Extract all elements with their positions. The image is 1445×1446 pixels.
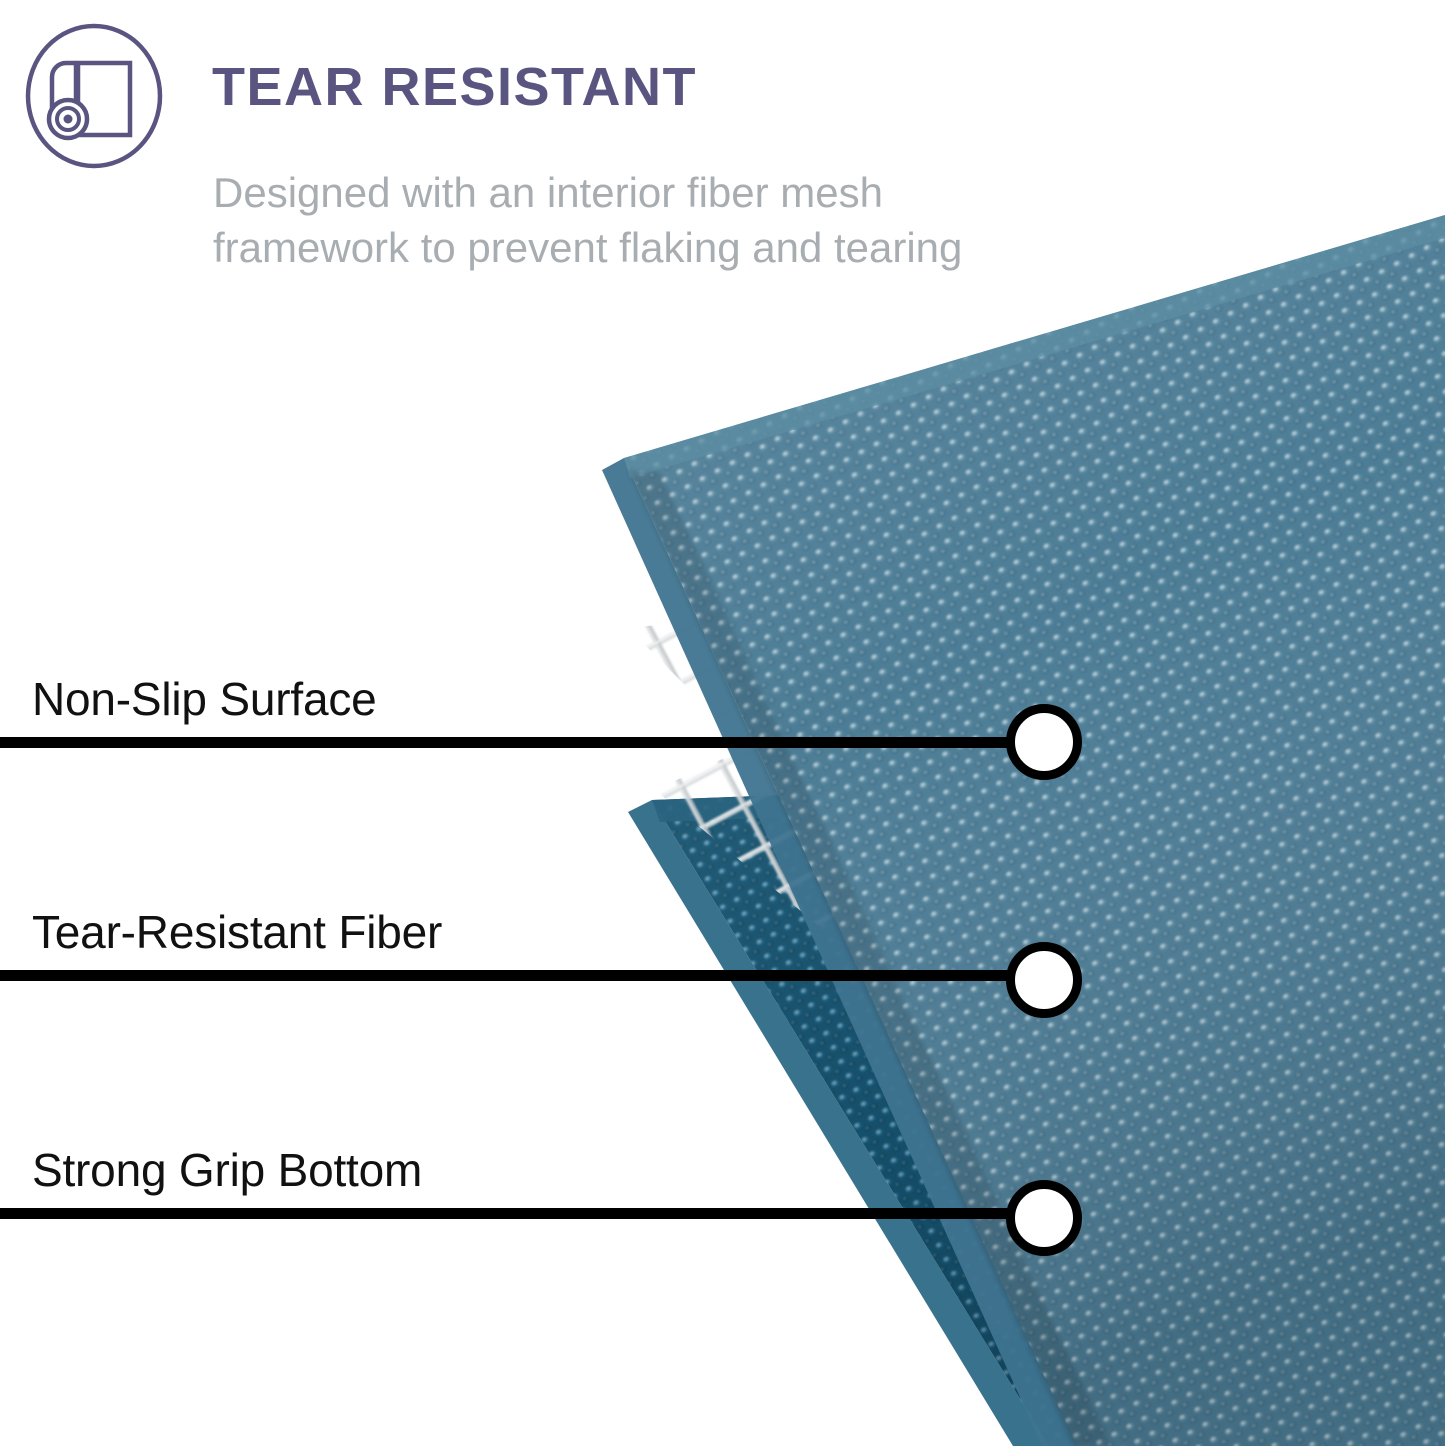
callout-dot-tear-resistant-fiber xyxy=(1006,942,1082,1018)
infographic-canvas: TEAR RESISTANT Designed with an interior… xyxy=(0,0,1445,1446)
header: TEAR RESISTANT Designed with an interior… xyxy=(0,0,1445,350)
callout-label-tear-resistant-fiber: Tear-Resistant Fiber xyxy=(32,905,442,959)
page-subtitle: Designed with an interior fiber mesh fra… xyxy=(213,165,973,276)
callout-dot-strong-grip-bottom xyxy=(1006,1180,1082,1256)
page-title: TEAR RESISTANT xyxy=(212,60,697,114)
callout-dot-non-slip-surface xyxy=(1006,704,1082,780)
rolled-mat-icon xyxy=(18,20,170,172)
callout-rule-tear-resistant-fiber xyxy=(0,970,1018,981)
callout-rule-non-slip-surface xyxy=(0,737,1018,748)
callout-rule-strong-grip-bottom xyxy=(0,1208,1018,1219)
callout-label-non-slip-surface: Non-Slip Surface xyxy=(32,672,377,726)
callout-label-strong-grip-bottom: Strong Grip Bottom xyxy=(32,1143,422,1197)
